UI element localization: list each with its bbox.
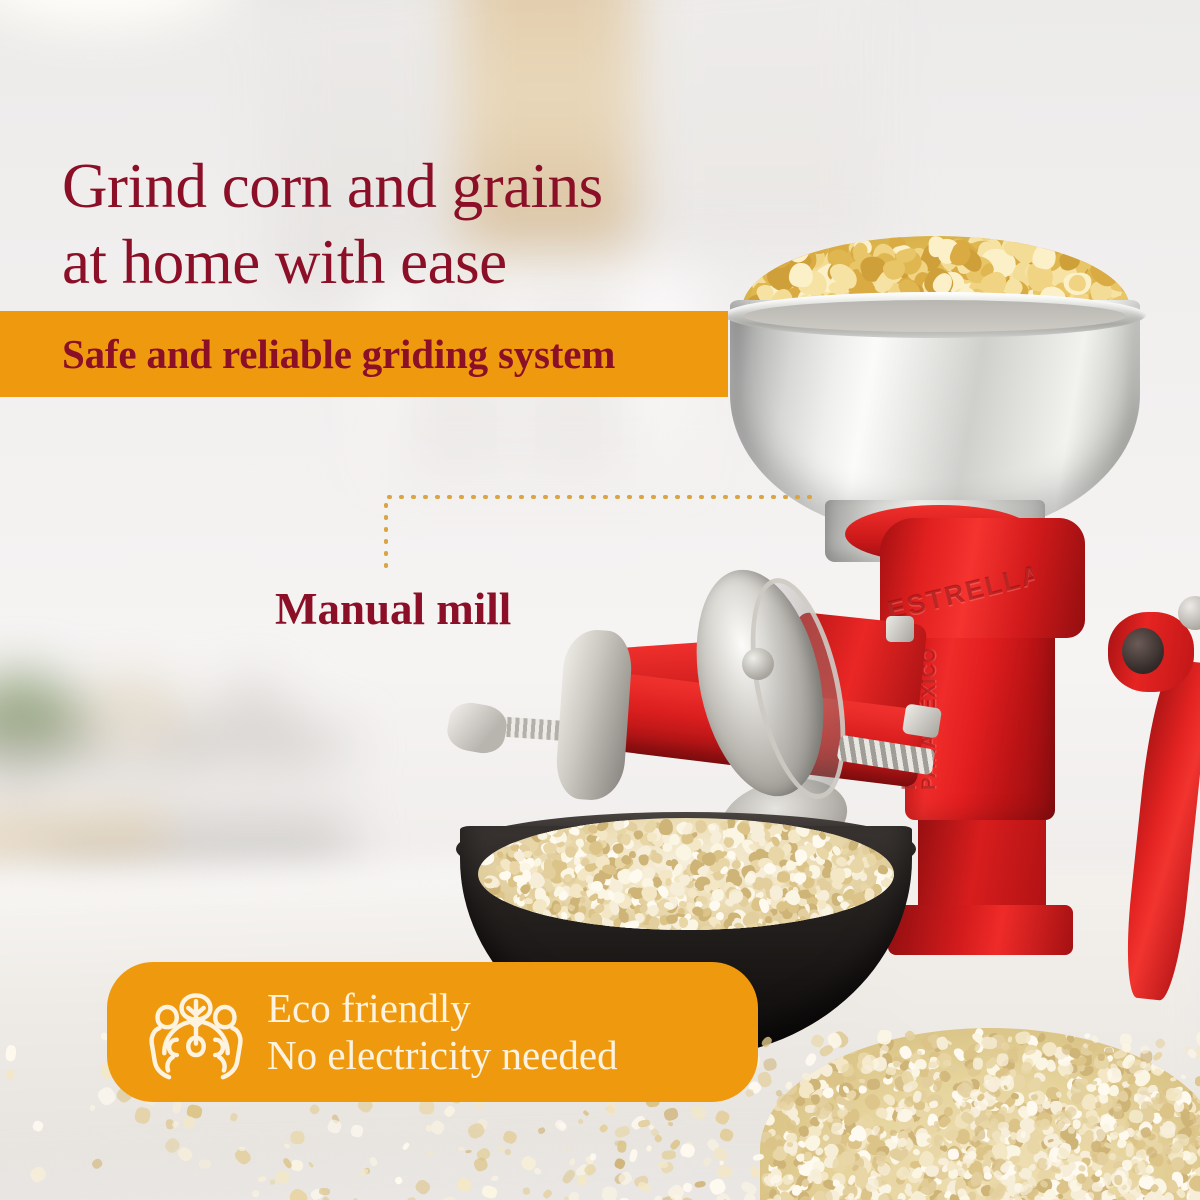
hopper-rim-inner [744,300,1126,332]
promo-image: ESTRELLA HECHO PARA MÉXICO Grind co [0,0,1200,1200]
clamp-bolt [902,703,942,738]
mill-column [918,820,1046,915]
headline-line-2: at home with ease [62,224,782,300]
eco-badge-line-1: Eco friendly [267,985,471,1031]
subtitle-text: Safe and reliable griding system [62,330,615,378]
head-bolt [886,616,914,642]
page-title: Grind corn and grains at home with ease [62,148,782,300]
eco-badge: Eco friendly No electricity needed [107,962,758,1102]
burr-hub [742,648,774,680]
adjuster-tip [444,699,509,756]
headline-line-1: Grind corn and grains [62,151,603,221]
mill-base [888,905,1073,955]
eco-badge-line-2: No electricity needed [267,1032,618,1079]
subtitle-banner: Safe and reliable griding system [0,311,728,397]
eco-badge-text: Eco friendly No electricity needed [267,985,618,1079]
crank-handle-arm [1120,658,1200,1002]
crank-hub-bore [1122,628,1164,674]
wing-nut-adjuster [554,628,634,802]
callout-label: Manual mill [275,583,511,635]
eco-hands-tree-icon [137,982,255,1082]
ground-corn-in-bowl [478,818,894,930]
